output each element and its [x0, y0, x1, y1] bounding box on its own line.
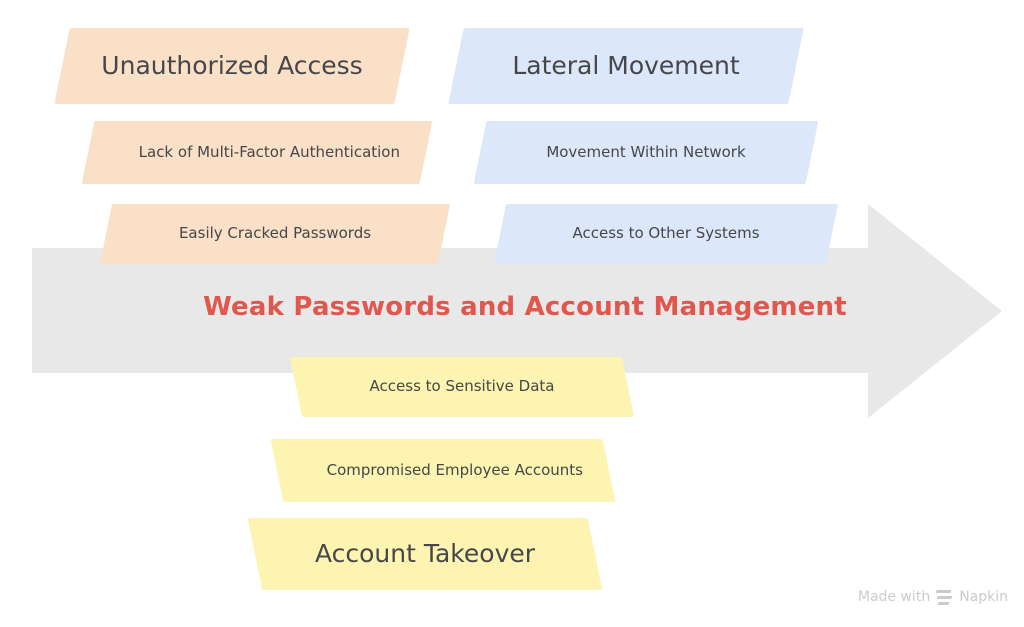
card-label: Access to Sensitive Data	[296, 377, 628, 396]
napkin-chevron-logo-icon	[936, 590, 953, 605]
card-label: Movement Within Network	[480, 143, 812, 162]
diagram-canvas: Unauthorized Access Lack of Multi-Factor…	[0, 0, 1024, 627]
card-account-takeover[interactable]: Account Takeover	[255, 518, 595, 590]
card-label: Access to Other Systems	[500, 224, 832, 243]
card-access-to-sensitive-data[interactable]: Access to Sensitive Data	[296, 357, 628, 417]
watermark-brand: Napkin	[959, 589, 1008, 605]
card-label: Lateral Movement	[456, 50, 796, 82]
card-label: Compromised Employee Accounts	[277, 461, 609, 480]
card-label: Lack of Multi-Factor Authentication	[88, 143, 426, 162]
card-label: Unauthorized Access	[62, 50, 402, 82]
card-unauthorized-access[interactable]: Unauthorized Access	[62, 28, 402, 104]
card-compromised-employee-accounts[interactable]: Compromised Employee Accounts	[277, 439, 609, 502]
card-easily-cracked-passwords[interactable]: Easily Cracked Passwords	[106, 204, 444, 264]
page-title: Weak Passwords and Account Management	[140, 292, 910, 322]
card-lateral-movement[interactable]: Lateral Movement	[456, 28, 796, 104]
card-access-to-other-systems[interactable]: Access to Other Systems	[500, 204, 832, 264]
card-movement-within-network[interactable]: Movement Within Network	[480, 121, 812, 184]
watermark-prefix: Made with	[858, 589, 930, 605]
card-label: Easily Cracked Passwords	[106, 224, 444, 243]
napkin-watermark: Made with Napkin	[858, 589, 1008, 605]
card-label: Account Takeover	[255, 538, 595, 570]
card-lack-of-mfa[interactable]: Lack of Multi-Factor Authentication	[88, 121, 426, 184]
